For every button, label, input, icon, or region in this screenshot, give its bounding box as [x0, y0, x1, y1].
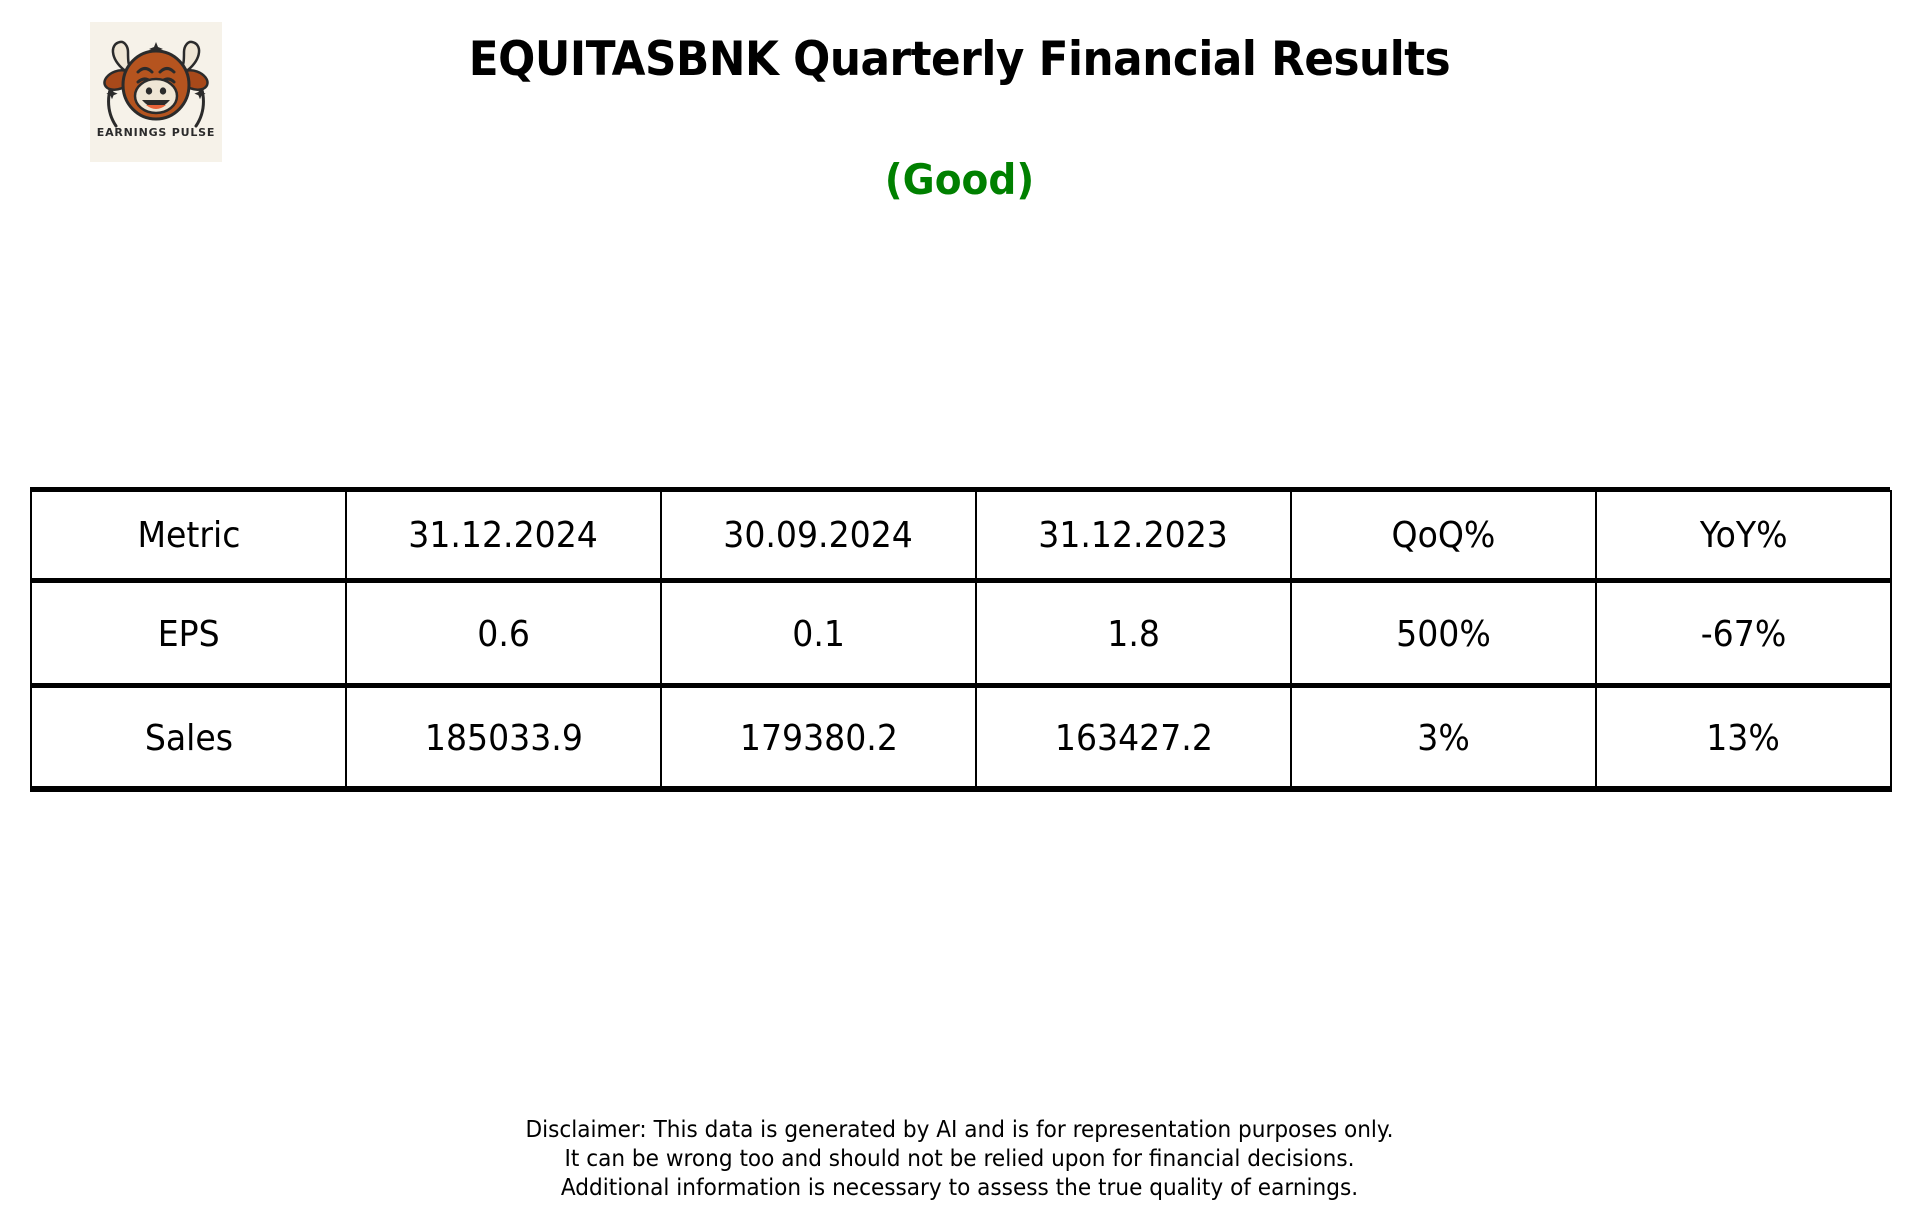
column-header-period-previous: 30.09.2024 — [661, 491, 976, 581]
column-header-period-current: 31.12.2024 — [346, 491, 661, 581]
table-row: Sales 185033.9 179380.2 163427.2 3% 13% — [31, 686, 1891, 791]
table-header-row: Metric 31.12.2024 30.09.2024 31.12.2023 … — [31, 491, 1891, 581]
logo-wordmark: EARNINGS PULSE — [90, 126, 222, 139]
cell-yoy-change: 13% — [1596, 686, 1891, 791]
disclaimer-line-3: Additional information is necessary to a… — [58, 1174, 1862, 1203]
cell-qoq-change: 500% — [1291, 581, 1596, 686]
cell-metric-name: Sales — [31, 686, 346, 791]
table-rule-row — [30, 683, 1890, 688]
table-rule-header — [30, 578, 1890, 583]
column-header-metric: Metric — [31, 491, 346, 581]
cell-value-current: 185033.9 — [346, 686, 661, 791]
sentiment-badge: (Good) — [67, 155, 1852, 204]
table-rule-top — [30, 487, 1890, 492]
cell-yoy-change: -67% — [1596, 581, 1891, 686]
page-title: EQUITASBNK Quarterly Financial Results — [67, 32, 1852, 87]
cell-value-current: 0.6 — [346, 581, 661, 686]
cell-value-previous: 179380.2 — [661, 686, 976, 791]
cell-qoq-change: 3% — [1291, 686, 1596, 791]
financial-results-table: Metric 31.12.2024 30.09.2024 31.12.2023 … — [30, 490, 1890, 792]
table-rule-bottom — [30, 786, 1890, 791]
report-page: EARNINGS PULSE EQUITASBNK Quarterly Fina… — [0, 0, 1919, 1220]
table-row: EPS 0.6 0.1 1.8 500% -67% — [31, 581, 1891, 686]
cell-value-previous: 0.1 — [661, 581, 976, 686]
cell-value-yearago: 163427.2 — [976, 686, 1291, 791]
cell-metric-name: EPS — [31, 581, 346, 686]
column-header-qoq: QoQ% — [1291, 491, 1596, 581]
column-header-yoy: YoY% — [1596, 491, 1891, 581]
column-header-period-yearago: 31.12.2023 — [976, 491, 1291, 581]
disclaimer-line-2: It can be wrong too and should not be re… — [58, 1145, 1862, 1174]
disclaimer-line-1: Disclaimer: This data is generated by AI… — [58, 1116, 1862, 1145]
cell-value-yearago: 1.8 — [976, 581, 1291, 686]
disclaimer: Disclaimer: This data is generated by AI… — [58, 1116, 1862, 1203]
